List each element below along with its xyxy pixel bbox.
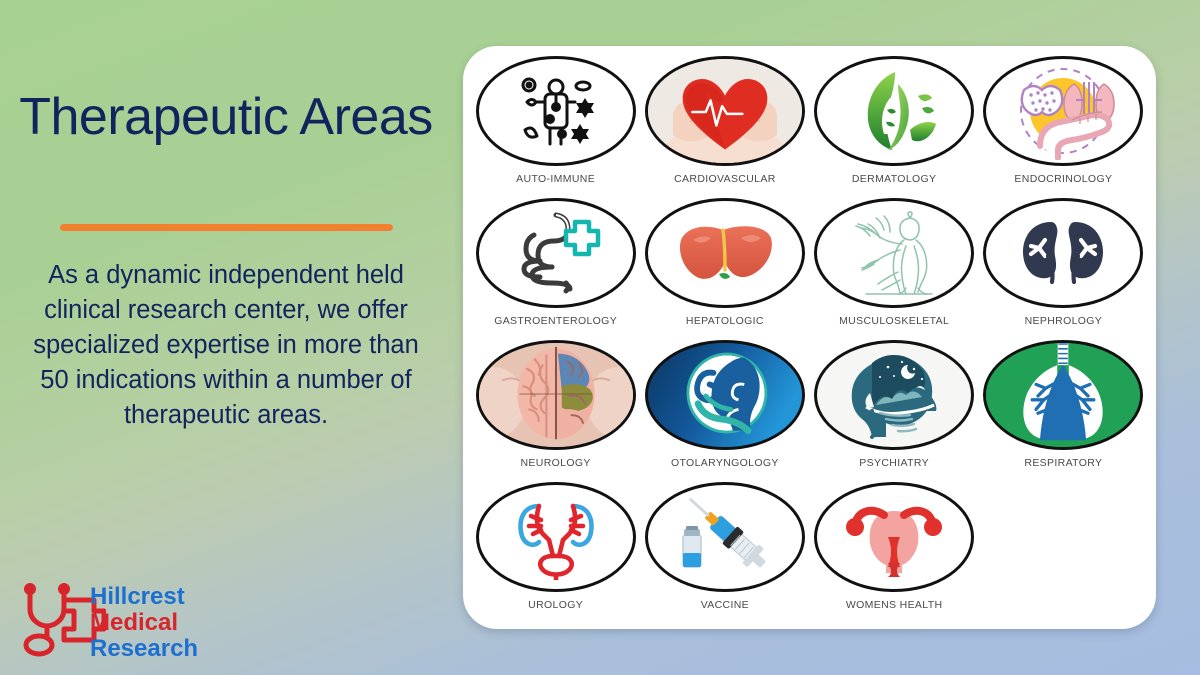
tile-auto-immune[interactable]: AUTO-IMMUNE xyxy=(471,56,640,198)
logo-wordmark: Hillcrest Medical Research xyxy=(90,584,198,662)
tile-label: CARDIOVASCULAR xyxy=(674,173,776,185)
tile-hepatologic[interactable]: HEPATOLOGIC xyxy=(640,198,809,340)
lungs-icon xyxy=(983,340,1143,450)
syringe-vial-icon xyxy=(645,482,805,592)
logo-line-hillcrest: Hillcrest xyxy=(90,584,198,610)
body-nerves-icon xyxy=(814,198,974,308)
intro-paragraph: As a dynamic independent held clinical r… xyxy=(24,258,428,433)
page-title: Therapeutic Areas xyxy=(0,88,452,146)
logo-line-medical: Medical xyxy=(90,610,198,636)
tile-vaccine[interactable]: VACCINE xyxy=(640,482,809,624)
tile-label: VACCINE xyxy=(701,599,749,611)
kidneys-icon xyxy=(983,198,1143,308)
tile-otolaryngology[interactable]: OTOLARYNGOLOGY xyxy=(640,340,809,482)
therapeutic-areas-grid: AUTO-IMMUNE CARDIOVASCULAR xyxy=(471,56,1148,622)
tile-label: GASTROENTEROLOGY xyxy=(494,315,617,327)
tile-label: AUTO-IMMUNE xyxy=(516,173,595,185)
tile-label: NEUROLOGY xyxy=(521,457,591,469)
company-logo: Hillcrest Medical Research xyxy=(18,583,233,665)
tile-womens-health[interactable]: WOMENS HEALTH xyxy=(810,482,979,624)
title-divider xyxy=(60,224,393,231)
tile-gastroenterology[interactable]: GASTROENTEROLOGY xyxy=(471,198,640,340)
left-text-panel: Therapeutic Areas As a dynamic independe… xyxy=(0,0,452,675)
slide-canvas: Therapeutic Areas As a dynamic independe… xyxy=(0,0,1200,675)
brain-in-hands-icon xyxy=(476,340,636,450)
ear-nose-throat-face-icon xyxy=(645,340,805,450)
tile-respiratory[interactable]: RESPIRATORY xyxy=(979,340,1148,482)
auto-immune-icon xyxy=(476,56,636,166)
tile-dermatology[interactable]: DERMATOLOGY xyxy=(810,56,979,198)
tile-cardiovascular[interactable]: CARDIOVASCULAR xyxy=(640,56,809,198)
tile-nephrology[interactable]: NEPHROLOGY xyxy=(979,198,1148,340)
leaf-face-icon xyxy=(814,56,974,166)
tile-label: PSYCHIATRY xyxy=(859,457,929,469)
heart-in-hands-icon xyxy=(645,56,805,166)
tile-label: NEPHROLOGY xyxy=(1025,315,1103,327)
tile-urology[interactable]: UROLOGY xyxy=(471,482,640,624)
tile-label: UROLOGY xyxy=(528,599,583,611)
mind-landscape-icon xyxy=(814,340,974,450)
tile-label: HEPATOLOGIC xyxy=(686,315,764,327)
tile-label: WOMENS HEALTH xyxy=(846,599,943,611)
tile-endocrinology[interactable]: ENDOCRINOLOGY xyxy=(979,56,1148,198)
endocrine-glands-icon xyxy=(983,56,1143,166)
tile-label: RESPIRATORY xyxy=(1024,457,1102,469)
uterus-icon xyxy=(814,482,974,592)
tile-label: MUSCULOSKELETAL xyxy=(839,315,949,327)
tile-psychiatry[interactable]: PSYCHIATRY xyxy=(810,340,979,482)
therapeutic-areas-card: AUTO-IMMUNE CARDIOVASCULAR xyxy=(463,46,1156,629)
urinary-tract-icon xyxy=(476,482,636,592)
tile-label: OTOLARYNGOLOGY xyxy=(671,457,779,469)
liver-icon xyxy=(645,198,805,308)
tile-musculoskeletal[interactable]: MUSCULOSKELETAL xyxy=(810,198,979,340)
tile-label: ENDOCRINOLOGY xyxy=(1014,173,1112,185)
tile-neurology[interactable]: NEUROLOGY xyxy=(471,340,640,482)
tile-label: DERMATOLOGY xyxy=(852,173,937,185)
intestine-cross-icon xyxy=(476,198,636,308)
logo-line-research: Research xyxy=(90,636,198,662)
